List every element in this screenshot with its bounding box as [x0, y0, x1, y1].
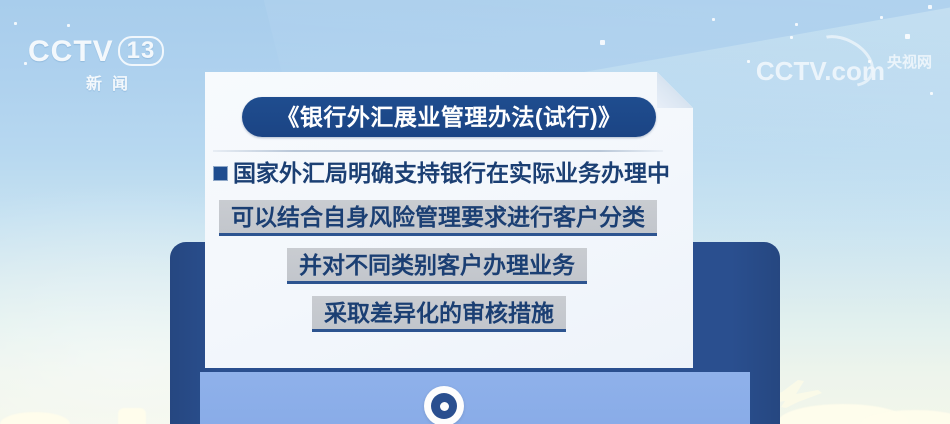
- cctv-wordmark: CCTV: [28, 35, 114, 68]
- home-button-dot: [440, 402, 449, 411]
- highlight-band: 采取差异化的审核措施: [312, 296, 566, 332]
- cctv-com-watermark: CCTV.com 央视网: [756, 40, 932, 84]
- paper-folded-corner: [657, 72, 693, 108]
- channel-number: 13: [118, 36, 165, 66]
- device-screen: [200, 372, 750, 424]
- highlight-band: 可以结合自身风险管理要求进行客户分类: [219, 200, 657, 236]
- highlight-line-text: 采取差异化的审核措施: [324, 301, 554, 325]
- broadcast-screenshot: CCTV13 新闻 CCTV.com 央视网 《银行外汇展业管理办法(试行)》 …: [0, 0, 950, 424]
- highlight-line-2: 并对不同类别客户办理业务: [287, 248, 587, 284]
- sparkle-icon: [905, 34, 910, 39]
- sparkle-icon: [600, 40, 605, 45]
- sparkle-icon: [880, 16, 883, 19]
- policy-title-pill: 《银行外汇展业管理办法(试行)》: [242, 97, 656, 137]
- sparkle-icon: [795, 23, 798, 26]
- square-bullet-icon: [213, 166, 228, 181]
- cloud-shape: [860, 410, 950, 424]
- page-title: 《银行外汇展业管理办法(试行)》: [276, 106, 621, 129]
- sparkle-icon: [14, 22, 17, 25]
- sparkle-icon: [928, 5, 932, 9]
- title-divider: [213, 150, 663, 152]
- bullet-line-text: 国家外汇局明确支持银行在实际业务办理中: [233, 162, 670, 185]
- sparkle-icon: [747, 60, 750, 63]
- cloud-shape: [0, 412, 70, 424]
- sparkle-icon: [67, 24, 70, 27]
- cctv13-wordmark-row: CCTV13: [28, 36, 188, 67]
- sparkle-icon: [790, 36, 793, 39]
- highlight-band: 并对不同类别客户办理业务: [287, 248, 587, 284]
- bullet-line-row: 国家外汇局明确支持银行在实际业务办理中: [213, 162, 685, 185]
- policy-card: 《银行外汇展业管理办法(试行)》 国家外汇局明确支持银行在实际业务办理中 可以结…: [205, 72, 693, 368]
- cloud-shape: [118, 408, 146, 424]
- highlight-line-1: 可以结合自身风险管理要求进行客户分类: [219, 200, 657, 236]
- highlight-line-text: 可以结合自身风险管理要求进行客户分类: [231, 205, 645, 229]
- channel-subtitle: 新闻: [28, 70, 188, 94]
- home-button-icon[interactable]: [424, 386, 464, 424]
- watermark-arc-icon: [801, 25, 883, 98]
- home-button-ring: [431, 393, 457, 419]
- sparkle-icon: [712, 18, 715, 21]
- cctv13-channel-logo: CCTV13 新闻: [28, 36, 188, 94]
- sparkle-icon: [930, 92, 933, 95]
- sparkle-icon: [24, 62, 27, 65]
- highlight-line-text: 并对不同类别客户办理业务: [299, 253, 575, 277]
- highlight-line-3: 采取差异化的审核措施: [312, 296, 566, 332]
- policy-card-content: 《银行外汇展业管理办法(试行)》 国家外汇局明确支持银行在实际业务办理中 可以结…: [205, 72, 693, 368]
- cloud-shape: [778, 404, 908, 424]
- watermark-chinese: 央视网: [887, 55, 932, 70]
